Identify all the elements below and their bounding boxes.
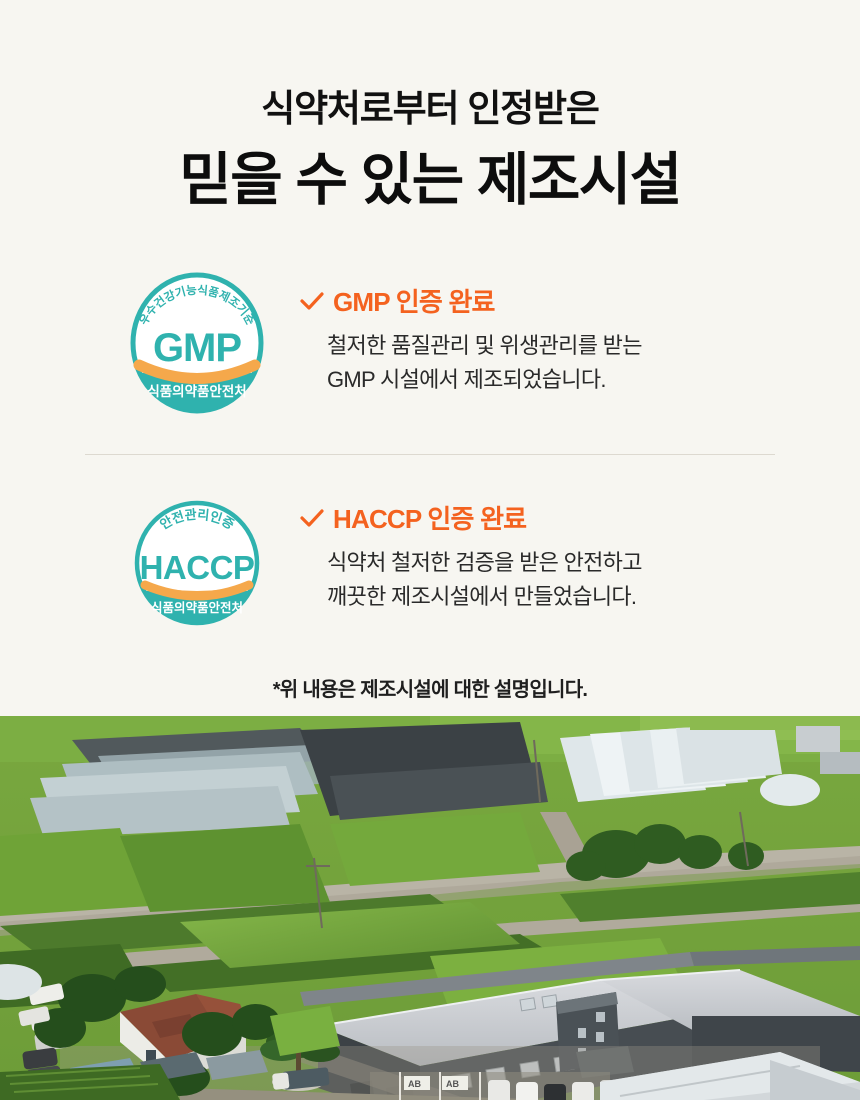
- gmp-badge-wrap: 우수건강기능식품제조기준 GMP 식품의약품안전처: [112, 266, 282, 418]
- headline-title: 믿을 수 있는 제조시설: [0, 147, 860, 214]
- headline-block: 식약처로부터 인정받은 믿을 수 있는 제조시설: [0, 0, 860, 214]
- headline-subtitle: 식약처로부터 인정받은: [0, 88, 860, 131]
- svg-text:AB: AB: [446, 1079, 459, 1089]
- haccp-description-line-1: 식약처 철저한 검증을 받은 안전하고: [327, 546, 860, 579]
- haccp-description: 식약처 철저한 검증을 받은 안전하고 깨끗한 제조시설에서 만들었습니다.: [327, 546, 860, 613]
- haccp-description-line-2: 깨끗한 제조시설에서 만들었습니다.: [327, 580, 860, 613]
- footnote-text: *위 내용은 제조시설에 대한 설명입니다.: [0, 673, 860, 702]
- gmp-description-line-2: GMP 시설에서 제조되었습니다.: [327, 363, 860, 396]
- svg-text:GMP: GMP: [153, 326, 241, 370]
- certification-row-gmp: 우수건강기능식품제조기준 GMP 식품의약품안전처: [0, 266, 860, 418]
- gmp-certification-badge: 우수건강기능식품제조기준 GMP 식품의약품안전처: [113, 268, 281, 418]
- aerial-photo-illustration: AB AB: [0, 716, 860, 1100]
- certification-list: 우수건강기능식품제조기준 GMP 식품의약품안전처: [0, 266, 860, 631]
- svg-text:HACCP: HACCP: [140, 549, 255, 586]
- gmp-description: 철저한 품질관리 및 위생관리를 받는 GMP 시설에서 제조되었습니다.: [327, 329, 860, 396]
- check-icon: [300, 291, 324, 313]
- aerial-photo-manufacturing-facility: AB AB: [0, 716, 860, 1100]
- haccp-certification-badge: 안전관리인증 HACCP 식품의약품안전처: [113, 499, 281, 631]
- check-icon: [300, 508, 324, 530]
- svg-text:AB: AB: [408, 1079, 421, 1089]
- gmp-text-block: GMP 인증 완료 철저한 품질관리 및 위생관리를 받는 GMP 시설에서 제…: [282, 266, 860, 396]
- certification-row-haccp: 안전관리인증 HACCP 식품의약품안전처 HACCP 인증 완료: [0, 493, 860, 631]
- section-divider: [85, 454, 775, 455]
- gmp-title-row: GMP 인증 완료: [300, 288, 860, 317]
- product-detail-page: 식약처로부터 인정받은 믿을 수 있는 제조시설: [0, 0, 860, 1100]
- haccp-text-block: HACCP 인증 완료 식약처 철저한 검증을 받은 안전하고 깨끗한 제조시설…: [282, 493, 860, 613]
- svg-text:식품의약품안전처: 식품의약품안전처: [147, 383, 246, 399]
- gmp-description-line-1: 철저한 품질관리 및 위생관리를 받는: [327, 329, 860, 362]
- haccp-title-row: HACCP 인증 완료: [300, 505, 860, 534]
- haccp-title-text: HACCP 인증 완료: [333, 505, 526, 534]
- gmp-title-text: GMP 인증 완료: [333, 288, 495, 317]
- svg-text:식품의약품안전처: 식품의약품안전처: [151, 600, 243, 615]
- haccp-badge-wrap: 안전관리인증 HACCP 식품의약품안전처: [112, 493, 282, 631]
